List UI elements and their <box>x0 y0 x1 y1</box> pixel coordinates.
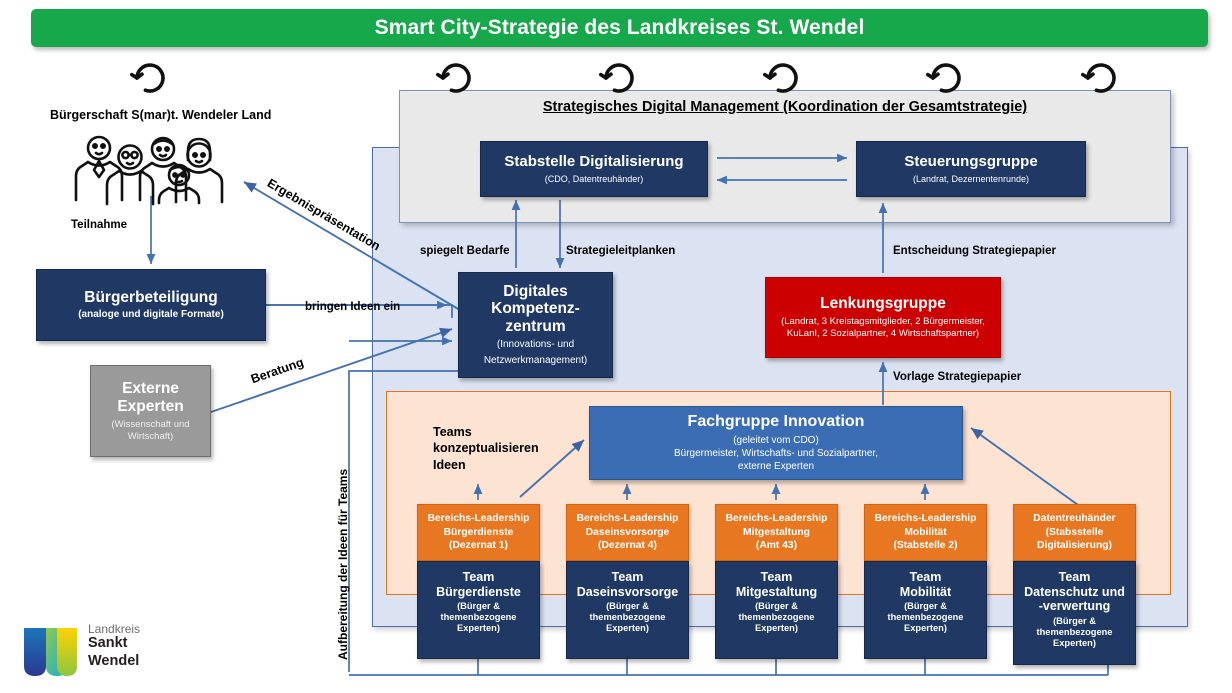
box-title-line-1: Digitales <box>503 283 568 300</box>
box-subtitle: (analoge und digitale Formate) <box>78 309 224 321</box>
team-line-3: -verwertung <box>1039 599 1111 614</box>
leadership-line-2: Bürgerdienste <box>444 526 514 539</box>
box-subtitle: (CDO, Datentreuhänder) <box>545 174 644 184</box>
logo-line-3: Wendel <box>88 653 139 670</box>
label-line-1: Teams <box>433 424 539 440</box>
team-sub-line-2: themenbezogene <box>1037 627 1113 638</box>
team-line-1: Team <box>1059 570 1091 585</box>
team-line-1: Team <box>612 570 644 585</box>
box-subtitle-line-1: (Innovations- und <box>497 339 574 351</box>
logo-line-2: Sankt <box>88 635 128 652</box>
box-subtitle: (Landrat, Dezernentenrunde) <box>913 174 1029 184</box>
leadership-line-1: Datentreuhänder <box>1033 512 1115 525</box>
team-sub-line-2: themenbezogene <box>590 612 666 623</box>
team-sub-line-1: (Bürger & <box>606 601 649 612</box>
team-sub-line-2: themenbezogene <box>739 612 815 623</box>
cycle-arrow-icon-group <box>132 65 1114 91</box>
label-bringen-ideen-ein: bringen Ideen ein <box>305 301 400 313</box>
box-title: Stabstelle Digitalisierung <box>504 154 683 171</box>
leadership-box[interactable]: Bereichs-Leadership Mitgestaltung (Amt 4… <box>715 504 838 561</box>
leadership-line-2: Mobilität <box>904 526 946 539</box>
leadership-line-2: Daseinsvorsorge <box>586 526 670 539</box>
team-column-datentreuhaender: Datentreuhänder (Stabsstelle Digitalisie… <box>1013 504 1136 665</box>
box-subtitle-line-1: (geleitet vom CDO) <box>733 434 819 447</box>
team-sub-line-3: Experten) <box>606 623 649 634</box>
team-line-1: Team <box>761 570 793 585</box>
team-line-2: Datenschutz und <box>1024 585 1125 600</box>
team-sub-line-3: Experten) <box>457 623 500 634</box>
leadership-line-2: Mitgestaltung <box>743 526 810 539</box>
leadership-box[interactable]: Bereichs-Leadership Mobilität (Stabstell… <box>864 504 987 561</box>
label-strategieleitplanken: Strategieleitplanken <box>566 245 675 257</box>
team-sub-line-3: Experten) <box>904 623 947 634</box>
box-digitales-kompetenzzentrum[interactable]: Digitales Kompetenz- zentrum (Innovation… <box>458 272 613 378</box>
box-title: Lenkungsgruppe <box>820 295 946 312</box>
box-title: Fachgruppe Innovation <box>688 413 865 431</box>
label-aufbereitung-ideen: Aufbereitung der Ideen für Teams <box>336 469 350 660</box>
team-sub-line-2: themenbezogene <box>888 612 964 623</box>
team-line-2: Mitgestaltung <box>736 585 817 600</box>
leadership-box[interactable]: Datentreuhänder (Stabsstelle Digitalisie… <box>1013 504 1136 561</box>
box-title-line-2: Experten <box>117 398 183 416</box>
leadership-box[interactable]: Bereichs-Leadership Daseinsvorsorge (Dez… <box>566 504 689 561</box>
box-title-line-3: zentrum <box>505 318 565 335</box>
team-column-mitgestaltung: Bereichs-Leadership Mitgestaltung (Amt 4… <box>715 504 838 659</box>
box-externe-experten[interactable]: Externe Experten (Wissenschaft und Wirts… <box>90 365 211 457</box>
team-line-1: Team <box>910 570 942 585</box>
team-column-daseinsvorsorge: Bereichs-Leadership Daseinsvorsorge (Dez… <box>566 504 689 659</box>
leadership-line-3: (Dezernat 1) <box>449 539 508 552</box>
label-spiegelt-bedarfe: spiegelt Bedarfe <box>420 245 509 257</box>
team-sub-line-1: (Bürger & <box>1053 616 1096 627</box>
box-subtitle-line-3: externe Experten <box>738 460 814 473</box>
label-entscheidung-strategiepapier: Entscheidung Strategiepapier <box>893 245 1056 257</box>
team-column-mobilitaet: Bereichs-Leadership Mobilität (Stabstell… <box>864 504 987 659</box>
people-group-icon <box>76 137 222 204</box>
team-box[interactable]: Team Mobilität (Bürger & themenbezogene … <box>864 561 987 659</box>
box-subtitle-line-2: KuLanI, 2 Sozialpartner, 4 Wirtschaftspa… <box>787 328 979 340</box>
leadership-line-2: (Stabsstelle <box>1046 526 1104 539</box>
team-sub-line-3: Experten) <box>1053 638 1096 649</box>
team-box[interactable]: Team Bürgerdienste (Bürger & themenbezog… <box>417 561 540 659</box>
box-title-line-1: Externe <box>122 380 179 398</box>
leadership-line-1: Bereichs-Leadership <box>428 512 530 525</box>
box-subtitle-line-1: (Wissenschaft und <box>111 419 189 430</box>
leadership-line-3: (Stabstelle 2) <box>893 539 957 552</box>
logo-line-1: Landkreis <box>88 622 140 636</box>
box-subtitle-line-1: (Landrat, 3 Kreistagsmitglieder, 2 Bürge… <box>781 316 985 328</box>
team-sub-line-1: (Bürger & <box>457 601 500 612</box>
label-line-3: Ideen <box>433 457 539 473</box>
team-sub-line-1: (Bürger & <box>755 601 798 612</box>
leadership-line-3: (Amt 43) <box>756 539 797 552</box>
leadership-line-3: Digitalisierung) <box>1037 539 1112 552</box>
label-line-2: konzeptualisieren <box>433 440 539 456</box>
label-teilnahme: Teilnahme <box>71 219 127 231</box>
diagram-canvas: Smart City-Strategie des Landkreises St.… <box>0 0 1232 693</box>
box-fachgruppe-innovation[interactable]: Fachgruppe Innovation (geleitet vom CDO)… <box>589 406 963 480</box>
box-stabstelle-digitalisierung[interactable]: Stabstelle Digitalisierung (CDO, Datentr… <box>480 141 708 197</box>
leadership-line-1: Bereichs-Leadership <box>875 512 977 525</box>
team-sub-line-1: (Bürger & <box>904 601 947 612</box>
citizens-heading: Bürgerschaft S(mar)t. Wendeler Land <box>50 108 271 122</box>
team-line-2: Daseinsvorsorge <box>577 585 678 600</box>
leadership-line-1: Bereichs-Leadership <box>726 512 828 525</box>
box-subtitle-line-2: Wirtschaft) <box>128 431 173 442</box>
box-title: Steuerungsgruppe <box>904 154 1037 171</box>
team-box[interactable]: Team Datenschutz und -verwertung (Bürger… <box>1013 561 1136 665</box>
leadership-box[interactable]: Bereichs-Leadership Bürgerdienste (Dezer… <box>417 504 540 561</box>
label-vorlage-strategiepapier: Vorlage Strategiepapier <box>893 371 1021 383</box>
box-steuerungsgruppe[interactable]: Steuerungsgruppe (Landrat, Dezernentenru… <box>856 141 1086 197</box>
team-line-2: Mobilität <box>900 585 951 600</box>
box-subtitle-line-2: Bürgermeister, Wirtschafts- und Sozialpa… <box>674 447 878 460</box>
team-box[interactable]: Team Mitgestaltung (Bürger & themenbezog… <box>715 561 838 659</box>
team-sub-line-3: Experten) <box>755 623 798 634</box>
box-subtitle-line-2: Netzwerkmanagement) <box>484 355 587 367</box>
team-line-2: Bürgerdienste <box>436 585 521 600</box>
box-title: Bürgerbeteiligung <box>84 289 217 306</box>
leadership-line-1: Bereichs-Leadership <box>577 512 679 525</box>
landkreis-logo: Landkreis Sankt Wendel <box>20 620 200 676</box>
label-teams-konzeptualisieren: Teams konzeptualisieren Ideen <box>433 424 539 473</box>
leadership-line-3: (Dezernat 4) <box>598 539 657 552</box>
box-title-line-2: Kompetenz- <box>491 300 580 317</box>
box-lenkungsgruppe[interactable]: Lenkungsgruppe (Landrat, 3 Kreistagsmitg… <box>765 277 1001 358</box>
team-line-1: Team <box>463 570 495 585</box>
box-buergerbeteiligung[interactable]: Bürgerbeteiligung (analoge und digitale … <box>36 269 266 341</box>
team-box[interactable]: Team Daseinsvorsorge (Bürger & themenbez… <box>566 561 689 659</box>
team-sub-line-2: themenbezogene <box>441 612 517 623</box>
team-column-buergerdienste: Bereichs-Leadership Bürgerdienste (Dezer… <box>417 504 540 659</box>
